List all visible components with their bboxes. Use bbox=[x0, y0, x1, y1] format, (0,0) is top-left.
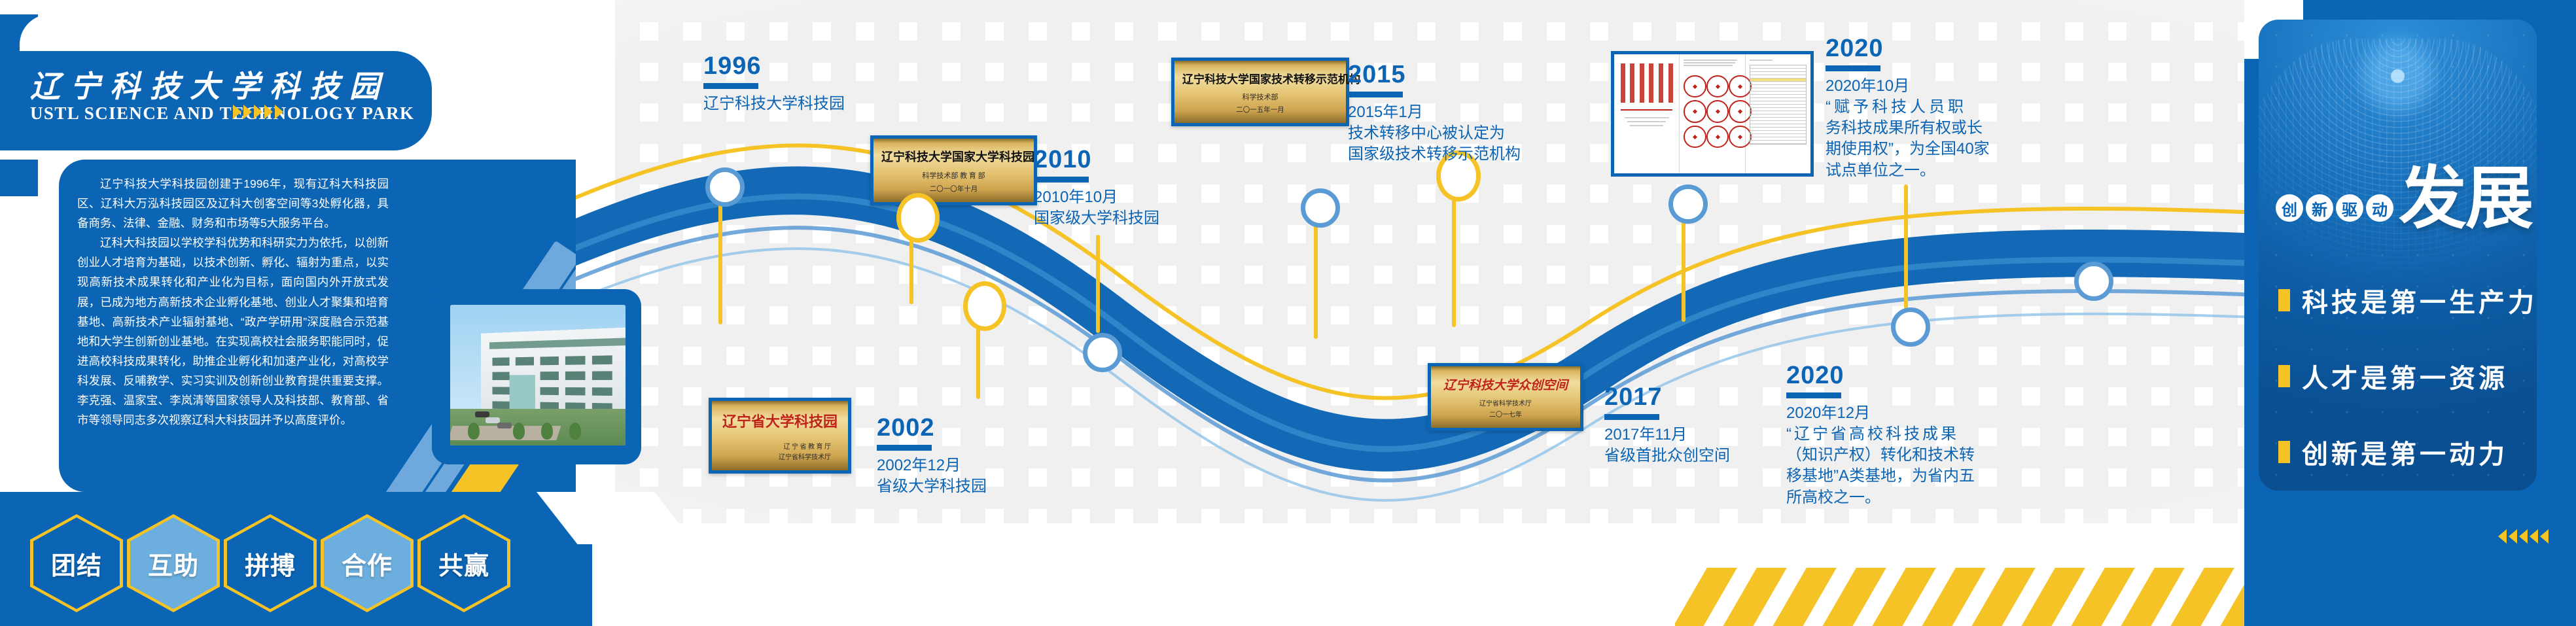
timeline-entry-2002[interactable]: 2002 2002年12月 省级大学科技园 bbox=[877, 415, 987, 497]
timeline-line: “辽宁省高校科技成果 bbox=[1786, 424, 1996, 445]
timeline-rule bbox=[1604, 414, 1659, 420]
timeline-line: 辽宁科技大学科技园 bbox=[703, 94, 845, 114]
node-ring-icon bbox=[1668, 184, 1708, 224]
timeline-line: 期使用权”，为全国40家 bbox=[1826, 139, 2041, 160]
timeline-node-2015 bbox=[1301, 188, 1331, 339]
slogan-hex-label: 拼搏 bbox=[245, 546, 296, 582]
timeline-line: 所高校之一。 bbox=[1786, 487, 1996, 508]
chevron-icon bbox=[2519, 529, 2528, 544]
chevron-icon bbox=[243, 105, 252, 119]
plaque-2015: 辽宁科技大学国家技术转移示范机构 科学技术部 二〇一五年一月 bbox=[1171, 58, 1349, 126]
timeline-entry-2015[interactable]: 2015 2015年1月 技术转移中心被认定为 国家级技术转移示范机构 bbox=[1348, 62, 1521, 165]
timeline-line: 2020年12月 bbox=[1786, 403, 1996, 424]
timeline-line: 国家级大学科技园 bbox=[1034, 208, 1159, 229]
timeline-rule bbox=[1034, 177, 1089, 183]
slogan-bullet-2: 人才是第一资源 bbox=[2278, 357, 2537, 395]
timeline-node-2010b bbox=[963, 281, 993, 399]
timeline-line: （知识产权）转化和技术转 bbox=[1786, 445, 1996, 466]
doc-lines bbox=[1750, 60, 1807, 61]
official-seal-icon bbox=[1684, 75, 1706, 97]
plaque-face: 辽宁省大学科技园 辽 宁 省 教 育 厅 辽宁省科学技术厅 bbox=[712, 401, 848, 470]
left-info-frame: 辽宁科技大学科技园 USTL SCIENCE AND TECHNOLOGY PA… bbox=[0, 0, 576, 626]
node-ring-icon bbox=[1083, 333, 1122, 372]
timeline-line: 国家级技术转移示范机构 bbox=[1348, 144, 1521, 165]
headline-char-4: 动 bbox=[2366, 194, 2393, 222]
page-title-en: USTL SCIENCE AND TECHNOLOGY PARK bbox=[30, 103, 423, 124]
chevron-icon bbox=[2498, 529, 2507, 544]
timeline-rule bbox=[1786, 392, 1841, 398]
slogan-hex-label: 团结 bbox=[51, 546, 102, 582]
timeline-entry-2010[interactable]: 2010 2010年10月 国家级大学科技园 bbox=[1034, 147, 1159, 229]
timeline-node-2010 bbox=[896, 193, 926, 304]
plaque-issuer-2: 辽宁省科学技术厅 bbox=[720, 453, 840, 463]
timeline-node-2020-oct bbox=[1668, 184, 1699, 322]
plaque-issuer: 辽宁省科学技术厅 bbox=[1439, 400, 1572, 409]
bullet-square-icon bbox=[2278, 289, 2290, 311]
plaque-issuer: 科学技术部 bbox=[1182, 93, 1338, 103]
intro-paragraph-2: 辽科大科技园以学校学科优势和科研实力为依托，以创新创业人才培育为基础，以技术创新… bbox=[77, 233, 389, 430]
bullet-text: 人才是第一资源 bbox=[2302, 357, 2508, 395]
plaque-face: 辽宁科技大学国家技术转移示范机构 科学技术部 二〇一五年一月 bbox=[1174, 61, 1346, 123]
slogan-hex-2[interactable]: 互助 bbox=[127, 514, 220, 612]
bullet-square-icon bbox=[2278, 441, 2290, 463]
timeline-line: 试点单位之一。 bbox=[1826, 160, 2041, 181]
timeline-year: 2020 bbox=[1826, 36, 2041, 61]
doc-seal-grid bbox=[1684, 75, 1740, 140]
timeline-year: 2015 bbox=[1348, 62, 1521, 87]
timeline-entry-2020-dec[interactable]: 2020 2020年12月 “辽宁省高校科技成果 （知识产权）转化和技术转 移基… bbox=[1786, 363, 1996, 508]
timeline-node-mid bbox=[1436, 150, 1473, 327]
chevron-icon bbox=[2540, 529, 2549, 544]
timeline-year: 2002 bbox=[877, 415, 987, 440]
plaque-face: 辽宁科技大学众创空间 辽宁省科学技术厅 二〇一七年 bbox=[1431, 366, 1580, 428]
slogan-hexagon-row: 团结 互助 拼搏 合作 共赢 bbox=[30, 514, 510, 612]
headline-char-3: 驱 bbox=[2336, 194, 2363, 222]
bullet-text: 科技是第一生产力 bbox=[2302, 281, 2537, 319]
plaque-title: 辽宁省大学科技园 bbox=[720, 410, 840, 431]
plaque-date: 二〇一七年 bbox=[1439, 411, 1572, 421]
doc-page-3 bbox=[1746, 54, 1810, 173]
plaque-2017: 辽宁科技大学众创空间 辽宁省科学技术厅 二〇一七年 bbox=[1428, 363, 1583, 431]
timeline-node-end bbox=[2074, 262, 2104, 301]
node-ring-icon bbox=[1301, 188, 1340, 228]
chevron-icon bbox=[264, 105, 273, 119]
plaque-date: 二〇一五年一月 bbox=[1182, 105, 1338, 115]
timeline-line: 技术转移中心被认定为 bbox=[1348, 123, 1521, 144]
headline-big-text: 发展 bbox=[2399, 170, 2532, 228]
hero-headline: 创 新 驱 动 发展 bbox=[2276, 170, 2532, 228]
plaque-title: 辽宁科技大学国家大学科技园 bbox=[881, 148, 1026, 165]
infographic-canvas: 辽宁科技大学科技园 USTL SCIENCE AND TECHNOLOGY PA… bbox=[0, 0, 2576, 626]
node-stem bbox=[1096, 235, 1100, 333]
slogan-hex-3[interactable]: 拼搏 bbox=[224, 514, 317, 612]
slogan-hex-5[interactable]: 共赢 bbox=[417, 514, 510, 612]
doc-lines bbox=[1684, 60, 1740, 66]
chevron-icon bbox=[275, 105, 283, 119]
slogan-hex-label: 互助 bbox=[148, 546, 199, 582]
plaque-2002: 辽宁省大学科技园 辽 宁 省 教 育 厅 辽宁省科学技术厅 bbox=[709, 398, 851, 474]
timeline-line: 省级首批众创空间 bbox=[1604, 445, 1730, 466]
headline-char-1: 创 bbox=[2276, 194, 2303, 222]
node-ring-icon bbox=[896, 193, 940, 243]
doc-red-columns bbox=[1618, 63, 1675, 103]
timeline-entry-2017[interactable]: 2017 2017年11月 省级首批众创空间 bbox=[1604, 385, 1730, 466]
official-seal-icon bbox=[1684, 126, 1706, 148]
doc-page-1 bbox=[1614, 54, 1680, 173]
bullet-text: 创新是第一动力 bbox=[2302, 433, 2508, 471]
timeline-year: 2010 bbox=[1034, 147, 1159, 172]
slogan-hex-label: 合作 bbox=[342, 546, 393, 582]
timeline-entry-2020-oct[interactable]: 2020 2020年10月 “赋予科技人员职 务科技成果所有权或长 期使用权”，… bbox=[1826, 36, 2041, 181]
timeline-line: 2017年11月 bbox=[1604, 425, 1730, 445]
node-stem bbox=[1452, 190, 1456, 327]
chevron-icon bbox=[2530, 529, 2538, 544]
official-seal-icon bbox=[1706, 75, 1729, 97]
headline-char-2: 新 bbox=[2306, 194, 2333, 222]
official-seal-icon bbox=[1706, 100, 1729, 122]
official-seal-icon bbox=[1706, 126, 1729, 148]
intro-text: 辽宁科技大学科技园创建于1996年，现有辽科大科技园区、辽科大万泓科技园区及辽科… bbox=[77, 174, 389, 430]
timeline-node-2002 bbox=[1083, 304, 1113, 402]
node-stem bbox=[1314, 215, 1318, 339]
timeline-year: 2020 bbox=[1786, 363, 1996, 388]
plaque-issuer: 辽 宁 省 教 育 厅 bbox=[720, 443, 840, 453]
timeline-rule bbox=[1826, 65, 1880, 71]
timeline-rule bbox=[1348, 92, 1403, 97]
chevron-group-right bbox=[2498, 529, 2549, 544]
timeline-line: 移基地”A类基地，为省内五 bbox=[1786, 466, 1996, 487]
timeline-line: 省级大学科技园 bbox=[877, 476, 987, 497]
frame-side-stub bbox=[0, 160, 38, 196]
intro-paragraph-1: 辽宁科技大学科技园创建于1996年，现有辽科大科技园区、辽科大万泓科技园区及辽科… bbox=[77, 174, 389, 233]
slogan-hex-4[interactable]: 合作 bbox=[321, 514, 414, 612]
plaque-2010: 辽宁科技大学国家大学科技园 科学技术部 教 育 部 二〇一〇年十月 bbox=[870, 135, 1037, 205]
timeline-entry-1996[interactable]: 1996 辽宁科技大学科技园 bbox=[703, 54, 845, 114]
doc-lines bbox=[1618, 117, 1675, 126]
bullet-square-icon bbox=[2278, 365, 2290, 387]
node-stem bbox=[718, 194, 722, 324]
node-ring-icon bbox=[705, 167, 745, 207]
plaque-title: 辽宁科技大学国家技术转移示范机构 bbox=[1182, 70, 1338, 86]
timeline-year: 2017 bbox=[1604, 385, 1730, 409]
policy-document-photo bbox=[1611, 51, 1814, 177]
doc-table bbox=[1750, 65, 1807, 145]
timeline-line: 2010年10月 bbox=[1034, 187, 1159, 208]
node-ring-icon bbox=[1891, 307, 1930, 347]
chevron-icon bbox=[233, 105, 241, 119]
slogan-bullet-3: 创新是第一动力 bbox=[2278, 433, 2537, 471]
timeline-line: 务科技成果所有权或长 bbox=[1826, 118, 2041, 139]
plaque-issuer: 科学技术部 教 育 部 bbox=[881, 171, 1026, 182]
slogan-hex-label: 共赢 bbox=[438, 546, 489, 582]
right-hero-card: 创 新 驱 动 发展 科技是第一生产力 人才是第一资源 创新是第一动力 bbox=[2259, 20, 2537, 491]
chevron-icon bbox=[2509, 529, 2517, 544]
timeline-year: 1996 bbox=[703, 54, 845, 78]
timeline-line: 2015年1月 bbox=[1348, 102, 1521, 123]
timeline-line: “赋予科技人员职 bbox=[1826, 97, 2041, 118]
node-ring-icon bbox=[963, 281, 1006, 331]
plaque-title: 辽宁科技大学众创空间 bbox=[1439, 375, 1572, 393]
timeline-rule bbox=[703, 83, 758, 89]
doc-page-2 bbox=[1680, 54, 1745, 173]
timeline-line: 2020年10月 bbox=[1826, 76, 2041, 97]
node-ring-icon bbox=[2074, 262, 2113, 301]
slogan-bullet-1: 科技是第一生产力 bbox=[2278, 281, 2537, 319]
timeline-line: 2002年12月 bbox=[877, 455, 987, 476]
page-title-cn: 辽宁科技大学科技园 bbox=[30, 63, 423, 106]
slogan-hex-1[interactable]: 团结 bbox=[30, 514, 123, 612]
timeline-node-1996 bbox=[705, 167, 735, 324]
official-seal-icon bbox=[1684, 100, 1706, 122]
chevron-group-left bbox=[233, 105, 283, 119]
headline-circle-group: 创 新 驱 动 bbox=[2276, 194, 2393, 222]
node-stem bbox=[1682, 211, 1685, 322]
slogan-bullet-list: 科技是第一生产力 人才是第一资源 创新是第一动力 bbox=[2278, 281, 2537, 491]
chevron-icon bbox=[254, 105, 262, 119]
node-stem bbox=[1904, 184, 1908, 309]
campus-building-photo bbox=[450, 305, 626, 445]
timeline-rule bbox=[877, 445, 932, 451]
